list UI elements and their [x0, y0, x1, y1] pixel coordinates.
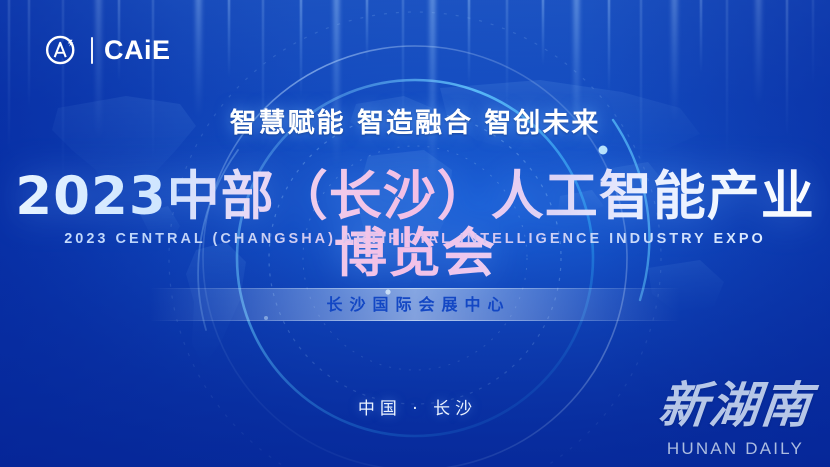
logo-divider: [91, 37, 93, 64]
watermark-english: HUNAN DAILY: [667, 439, 804, 459]
venue-name: 长沙国际会展中心: [0, 290, 830, 319]
poster-title: 2023中部（长沙）人工智能产业博览会: [0, 168, 830, 282]
poster-tagline: 智慧赋能 智造融合 智创未来: [0, 101, 830, 140]
hunan-daily-watermark: 新湖南 HUNAN DAILY: [659, 381, 812, 459]
caie-wordmark: CAiE: [104, 37, 171, 64]
poster-subtitle-english: 2023 CENTRAL (CHANGSHA) ARTIFICIAL INTEL…: [0, 231, 830, 247]
caie-circular-emblem-icon: [42, 31, 80, 69]
expo-poster: CAiE 智慧赋能 智造融合 智创未来 2023中部（长沙）人工智能产业博览会 …: [0, 0, 830, 467]
caie-logo[interactable]: CAiE: [42, 31, 171, 69]
watermark-chinese: 新湖南: [656, 381, 814, 430]
